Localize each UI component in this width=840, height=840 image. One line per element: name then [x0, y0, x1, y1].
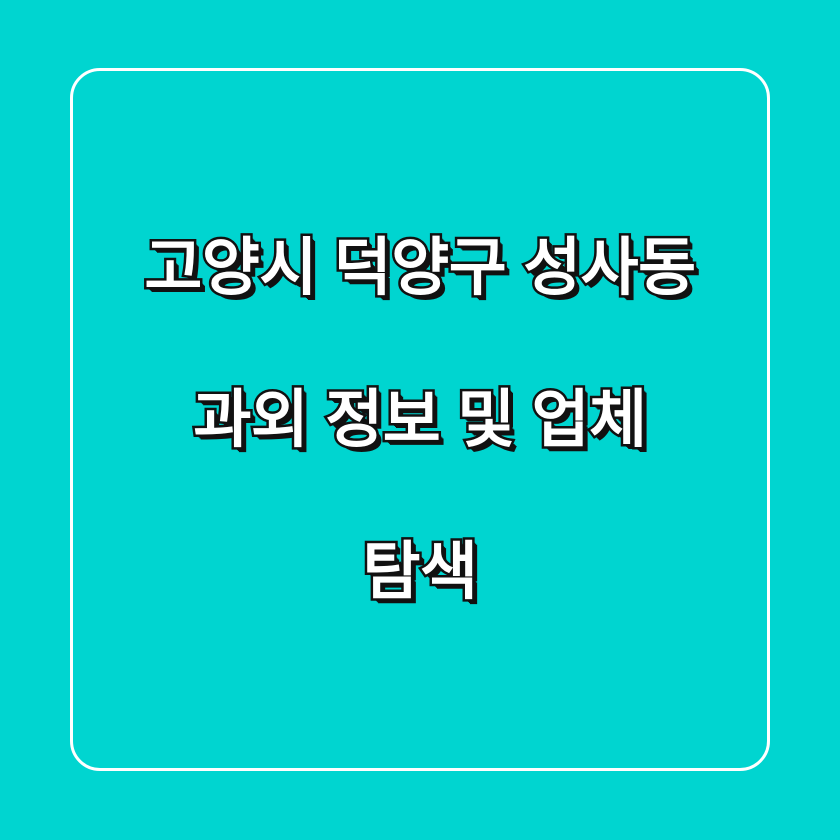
- title-line-3: 탐색: [80, 534, 760, 610]
- page-title: 고양시 덕양구 성사동 과외 정보 및 업체 탐색: [80, 154, 760, 686]
- headline-block: 고양시 덕양구 성사동 과외 정보 및 업체 탐색: [0, 0, 840, 840]
- title-line-2: 과외 정보 및 업체: [80, 382, 760, 458]
- title-line-1: 고양시 덕양구 성사동: [80, 230, 760, 306]
- poster-canvas: 고양시 덕양구 성사동 과외 정보 및 업체 탐색: [0, 0, 840, 840]
